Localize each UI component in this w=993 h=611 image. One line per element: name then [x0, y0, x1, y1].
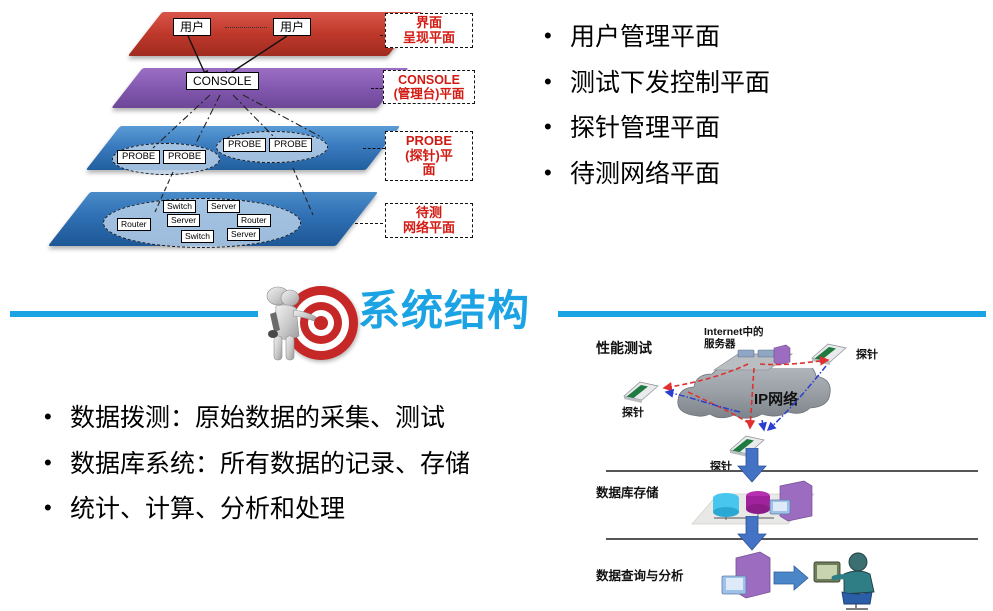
bullet-marker: •: [40, 405, 70, 429]
mannequin-figure-icon: [256, 284, 326, 362]
node-probe-1: PROBE: [117, 150, 160, 164]
target-graphic: [252, 284, 360, 362]
list-item: • 用户管理平面: [540, 24, 970, 52]
node-user-right: 用户: [273, 18, 311, 36]
bullet-text: 用户管理平面: [570, 24, 720, 52]
list-item: • 测试下发控制平面: [540, 70, 970, 98]
bullet-marker: •: [540, 161, 570, 185]
traffic-flow-arrows: [578, 320, 993, 611]
node-console: CONSOLE: [186, 72, 259, 90]
node-switch-bottom: Switch: [181, 230, 214, 243]
node-router-right: Router: [237, 214, 271, 227]
system-flow-diagram: 性能测试 数据库存储 数据查询与分析 Internet中的 服务器 IP网络 探…: [578, 320, 993, 611]
bullet-marker: •: [540, 115, 570, 139]
divider-right: [558, 311, 986, 317]
node-probe-4: PROBE: [269, 138, 312, 152]
list-item: • 统计、计算、分析和处理: [40, 496, 560, 524]
node-server-mid: Server: [167, 214, 200, 227]
bullet-text: 待测网络平面: [570, 161, 720, 189]
bullet-marker: •: [540, 70, 570, 94]
node-server-top: Server: [207, 200, 240, 213]
bullet-marker: •: [40, 496, 70, 520]
top-bullet-list: • 用户管理平面 • 测试下发控制平面 • 探针管理平面 • 待测网络平面: [540, 24, 970, 206]
node-probe-2: PROBE: [163, 150, 206, 164]
list-item: • 探针管理平面: [540, 115, 970, 143]
list-item: • 数据库系统：所有数据的记录、存储: [40, 451, 560, 479]
node-user-left: 用户: [173, 18, 211, 36]
bullet-marker: •: [540, 24, 570, 48]
bullet-text: 统计、计算、分析和处理: [70, 496, 345, 524]
node-router-left: Router: [117, 218, 151, 231]
list-item: • 待测网络平面: [540, 161, 970, 189]
divider-left: [10, 311, 258, 317]
list-item: • 数据拨测：原始数据的采集、测试: [40, 405, 560, 433]
node-server-bottom: Server: [227, 228, 260, 241]
page-title: 系统结构: [358, 278, 530, 344]
bullet-marker: •: [40, 451, 70, 475]
node-probe-3: PROBE: [223, 138, 266, 152]
bullet-text: 数据库系统：所有数据的记录、存储: [70, 451, 470, 479]
down-arrow-icon-1: [736, 448, 768, 484]
bottom-bullet-list: • 数据拨测：原始数据的采集、测试 • 数据库系统：所有数据的记录、存储 • 统…: [40, 405, 560, 542]
bullet-text: 数据拨测：原始数据的采集、测试: [70, 405, 445, 433]
down-arrow-icon-2: [736, 516, 768, 552]
bullet-text: 探针管理平面: [570, 115, 720, 143]
node-switch-top: Switch: [163, 200, 196, 213]
layered-architecture-diagram: 用户 用户 CONSOLE PROBE PROBE PROBE PROBE: [55, 0, 485, 270]
user-link-dotted: [225, 27, 267, 28]
bullet-text: 测试下发控制平面: [570, 70, 770, 98]
